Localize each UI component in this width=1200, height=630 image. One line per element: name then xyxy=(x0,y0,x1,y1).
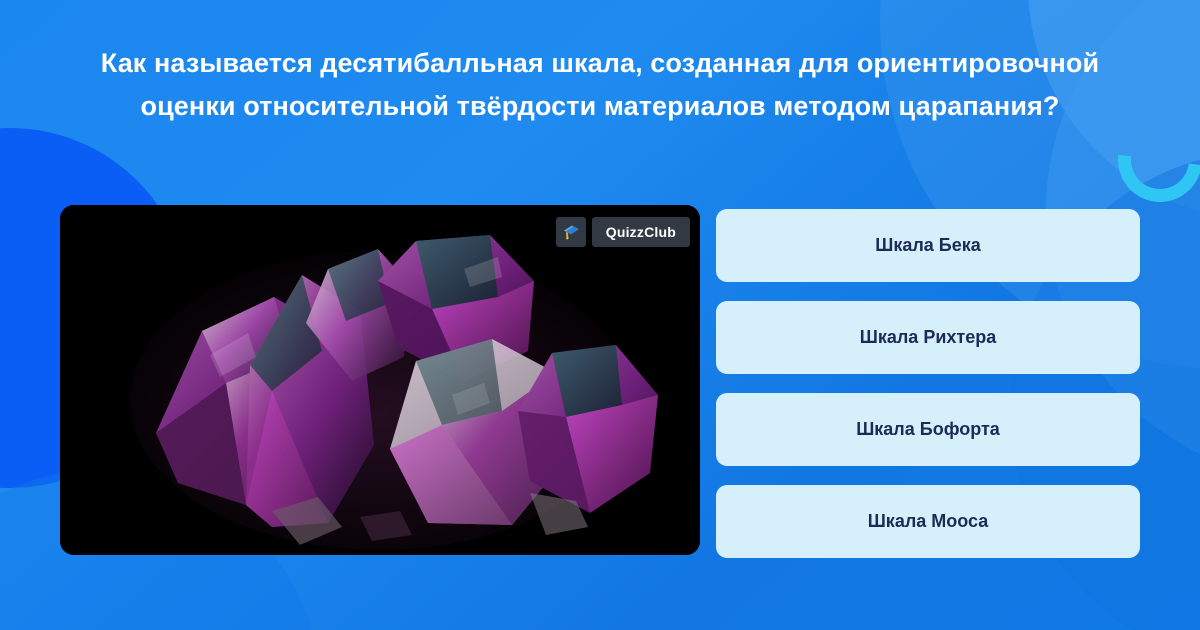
answer-option-1[interactable]: Шкала Бека xyxy=(716,209,1140,282)
answer-option-label: Шкала Рихтера xyxy=(860,327,996,348)
watermark-brand-label: QuizzClub xyxy=(592,217,690,247)
answer-option-2[interactable]: Шкала Рихтера xyxy=(716,301,1140,374)
answer-option-3[interactable]: Шкала Бофорта xyxy=(716,393,1140,466)
answer-option-4[interactable]: Шкала Мооса xyxy=(716,485,1140,558)
quiz-card: Как называется десятибалльная шкала, соз… xyxy=(0,0,1200,630)
question-image-card: QuizzClub xyxy=(60,205,700,555)
answer-option-label: Шкала Бека xyxy=(875,235,981,256)
crystal-photo xyxy=(60,205,700,555)
graduation-cap-icon xyxy=(556,217,586,247)
watermark-badge: QuizzClub xyxy=(556,217,690,247)
question-title: Как называется десятибалльная шкала, соз… xyxy=(50,42,1150,128)
answer-option-label: Шкала Мооса xyxy=(868,511,989,532)
answer-options-list: Шкала Бека Шкала Рихтера Шкала Бофорта Ш… xyxy=(716,209,1140,558)
answer-option-label: Шкала Бофорта xyxy=(856,419,1000,440)
